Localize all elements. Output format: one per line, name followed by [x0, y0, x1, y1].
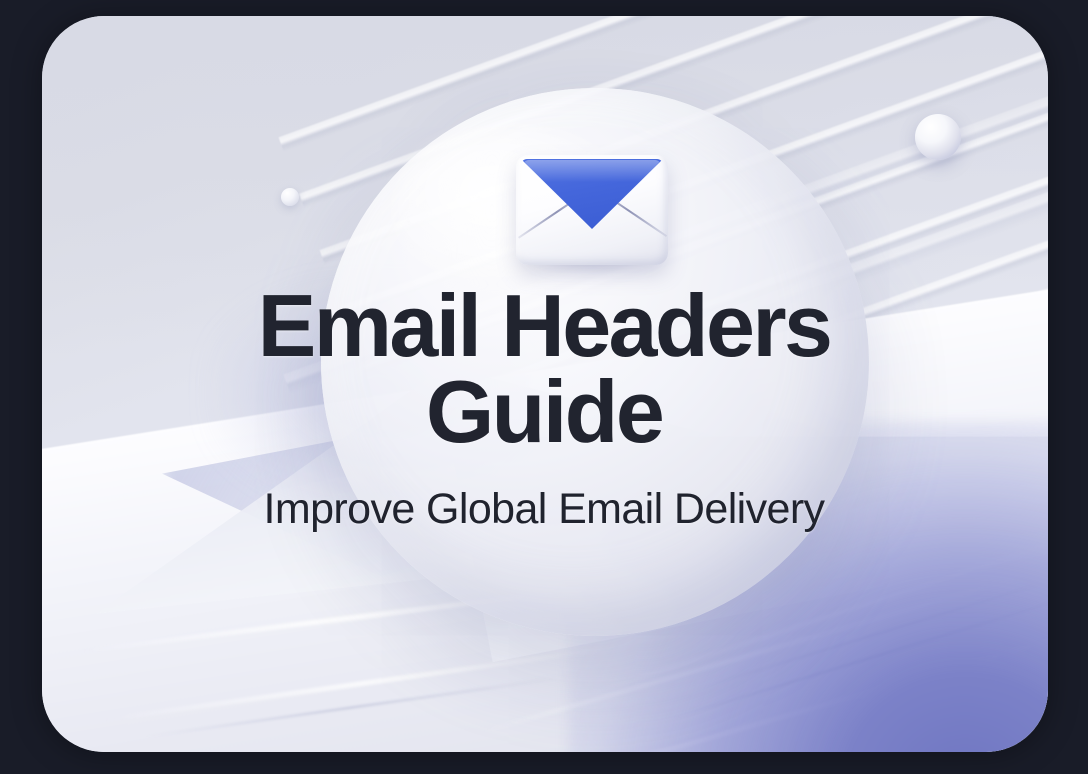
screenshot-stage: Email Headers Guide Improve Global Email…	[0, 0, 1088, 774]
envelope-flap-highlight	[523, 160, 661, 182]
decor-sphere-large-icon	[915, 114, 961, 160]
hero-card	[42, 16, 1048, 752]
decor-sphere-small-icon	[281, 188, 299, 206]
envelope-icon	[516, 155, 668, 265]
